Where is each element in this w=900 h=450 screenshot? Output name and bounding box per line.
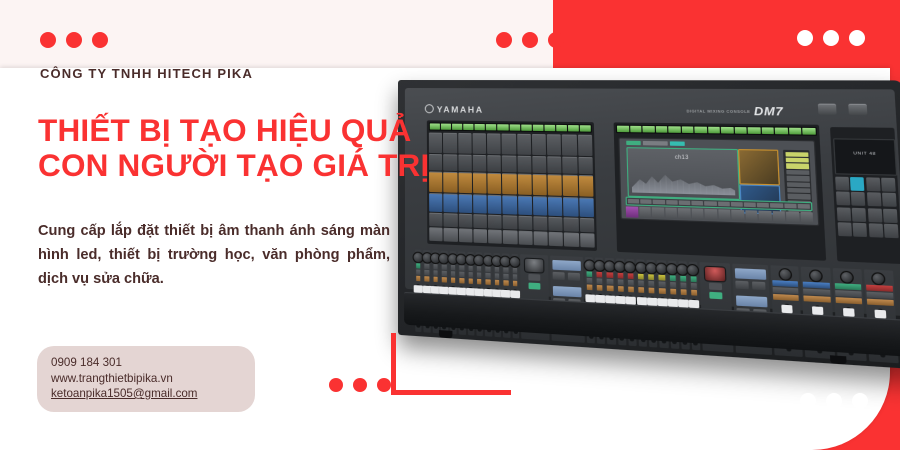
dot-icon	[849, 30, 865, 46]
screen-spectrum-curve	[631, 169, 735, 196]
lamp-socket-left-icon	[818, 104, 837, 115]
headline-line-1: THIẾT BỊ TẠO HIỆU QUẢ	[38, 112, 411, 148]
mixer-model-name: DM7	[754, 105, 784, 118]
dot-icon	[800, 393, 816, 409]
dot-icon	[329, 378, 343, 392]
level-meter-strip-left	[429, 122, 592, 132]
headline-line-2: CON NGƯỜI TẠO GIÁ TRỊ	[38, 148, 429, 183]
decor-dots-bottom-center	[329, 378, 391, 392]
company-name: CÔNG TY TNHH HITECH PIKA	[40, 66, 253, 81]
dot-icon	[377, 378, 391, 392]
screen-dynamics-graph	[738, 149, 780, 185]
dot-icon	[40, 32, 56, 48]
promo-banner: YAMAHA DIGITAL MIXING CONSOLEDM7	[0, 0, 900, 450]
yamaha-tuning-fork-icon	[425, 104, 434, 113]
services-description: Cung cấp lắp đặt thiết bị âm thanh ánh s…	[38, 219, 390, 291]
contact-email[interactable]: ketoanpika1505@gmail.com	[51, 386, 241, 402]
utility-screen-label: UNIT 48	[853, 150, 876, 156]
dot-icon	[852, 393, 868, 409]
mixer-top-panel: YAMAHA DIGITAL MIXING CONSOLEDM7	[405, 88, 900, 316]
screen-eq-panel: ch13	[626, 147, 740, 200]
level-meter-strip-right	[616, 125, 817, 136]
contact-phone[interactable]: 0909 184 301	[51, 355, 241, 371]
bracket-vertical-line	[391, 333, 396, 395]
bracket-horizontal-line	[391, 390, 511, 395]
mixer-model-prefix: DIGITAL MIXING CONSOLE	[686, 109, 750, 114]
mixer-touchscreen: ch13	[618, 137, 819, 226]
dot-icon	[66, 32, 82, 48]
channel-display-row	[429, 133, 593, 157]
decor-corner-bracket	[391, 333, 511, 395]
utility-button-grid	[835, 177, 898, 239]
decor-dots-top-left	[40, 32, 108, 48]
dot-icon	[496, 32, 512, 48]
utility-screen: UNIT 48	[833, 138, 897, 175]
contact-info-pill: 0909 184 301 www.trangthietbipika.vn ket…	[37, 346, 255, 412]
screen-tab-row	[626, 141, 685, 146]
mixer-foot-right-icon	[830, 355, 847, 364]
screen-channel-label: ch13	[675, 154, 689, 161]
dot-icon	[522, 32, 538, 48]
mixer-chassis: YAMAHA DIGITAL MIXING CONSOLEDM7	[398, 80, 900, 370]
decor-dots-bottom-right	[800, 393, 868, 409]
lamp-socket-right-icon	[848, 104, 867, 115]
dot-icon	[548, 32, 564, 48]
yamaha-wordmark: YAMAHA	[437, 104, 484, 115]
dot-icon	[797, 30, 813, 46]
dot-icon	[823, 30, 839, 46]
contact-website[interactable]: www.trangthietbipika.vn	[51, 371, 241, 387]
dot-icon	[353, 378, 367, 392]
yamaha-dm7-mixer-image: YAMAHA DIGITAL MIXING CONSOLEDM7	[398, 80, 868, 342]
dot-icon	[92, 32, 108, 48]
dot-icon	[826, 393, 842, 409]
mixer-model-label: DIGITAL MIXING CONSOLEDM7	[686, 105, 784, 119]
decor-dots-mid-left	[496, 32, 564, 48]
yamaha-logo: YAMAHA	[425, 104, 484, 115]
decor-dots-top-right	[797, 30, 865, 46]
page-title: THIẾT BỊ TẠO HIỆU QUẢ CON NGƯỜI TẠO GIÁ …	[38, 113, 429, 183]
channel-bank-left	[427, 120, 597, 251]
